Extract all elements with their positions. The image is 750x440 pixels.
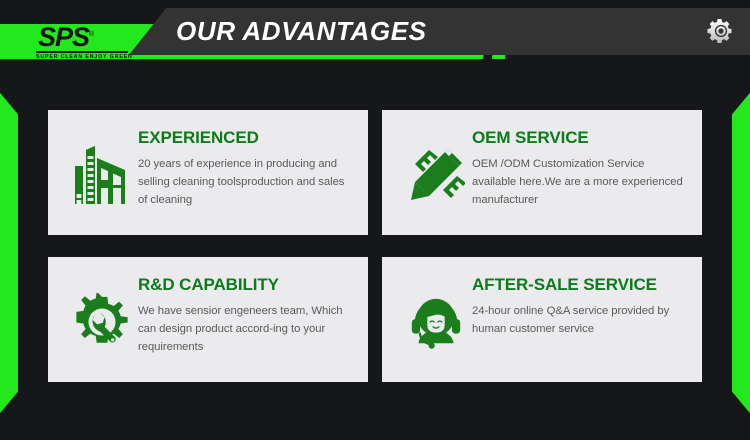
card-title: R&D CAPABILITY: [138, 275, 354, 294]
card-text-block: R&D CAPABILITY We have sensior engeneers…: [138, 273, 354, 356]
card-title: AFTER-SALE SERVICE: [472, 275, 688, 294]
card-description: OEM /ODM Customization Service available…: [472, 155, 688, 209]
advantages-banner: OUR ADVANTAGES SPS® SUPER CLEAN ENJOY GR…: [0, 0, 750, 440]
headset-support-icon: [400, 273, 472, 367]
card-title: EXPERIENCED: [138, 128, 354, 147]
gear-icon: [706, 16, 736, 46]
advantage-card-rd-capability[interactable]: R&D CAPABILITY We have sensior engeneers…: [48, 257, 368, 382]
card-text-block: OEM SERVICE OEM /ODM Customization Servi…: [472, 126, 688, 209]
registered-mark: ®: [89, 31, 93, 38]
page-title: OUR ADVANTAGES: [176, 13, 427, 49]
logo-text: SPS: [38, 22, 89, 52]
card-description: 24-hour online Q&A service provided by h…: [472, 302, 688, 338]
card-text-block: EXPERIENCED 20 years of experience in pr…: [138, 126, 354, 209]
factory-building-icon: [66, 126, 138, 220]
pencil-design-icon: [400, 126, 472, 220]
brand-logo[interactable]: SPS® SUPER CLEAN ENJOY GREEN: [36, 22, 132, 60]
card-title: OEM SERVICE: [472, 128, 688, 147]
logo-wordmark: SPS®: [36, 22, 132, 50]
settings-gear-button[interactable]: [702, 12, 740, 50]
logo-tagline: SUPER CLEAN ENJOY GREEN: [36, 54, 132, 60]
advantage-card-experienced[interactable]: EXPERIENCED 20 years of experience in pr…: [48, 110, 368, 235]
card-text-block: AFTER-SALE SERVICE 24-hour online Q&A se…: [472, 273, 688, 338]
right-green-accent: [732, 88, 750, 418]
left-green-accent: [0, 88, 18, 418]
advantage-card-oem-service[interactable]: OEM SERVICE OEM /ODM Customization Servi…: [382, 110, 702, 235]
advantages-grid: EXPERIENCED 20 years of experience in pr…: [48, 110, 702, 382]
card-description: We have sensior engeneers team, Which ca…: [138, 302, 354, 356]
advantage-card-after-sale-service[interactable]: AFTER-SALE SERVICE 24-hour online Q&A se…: [382, 257, 702, 382]
card-description: 20 years of experience in producing and …: [138, 155, 354, 209]
gear-wrench-icon: [66, 273, 138, 367]
page-header: OUR ADVANTAGES SPS® SUPER CLEAN ENJOY GR…: [0, 0, 750, 78]
